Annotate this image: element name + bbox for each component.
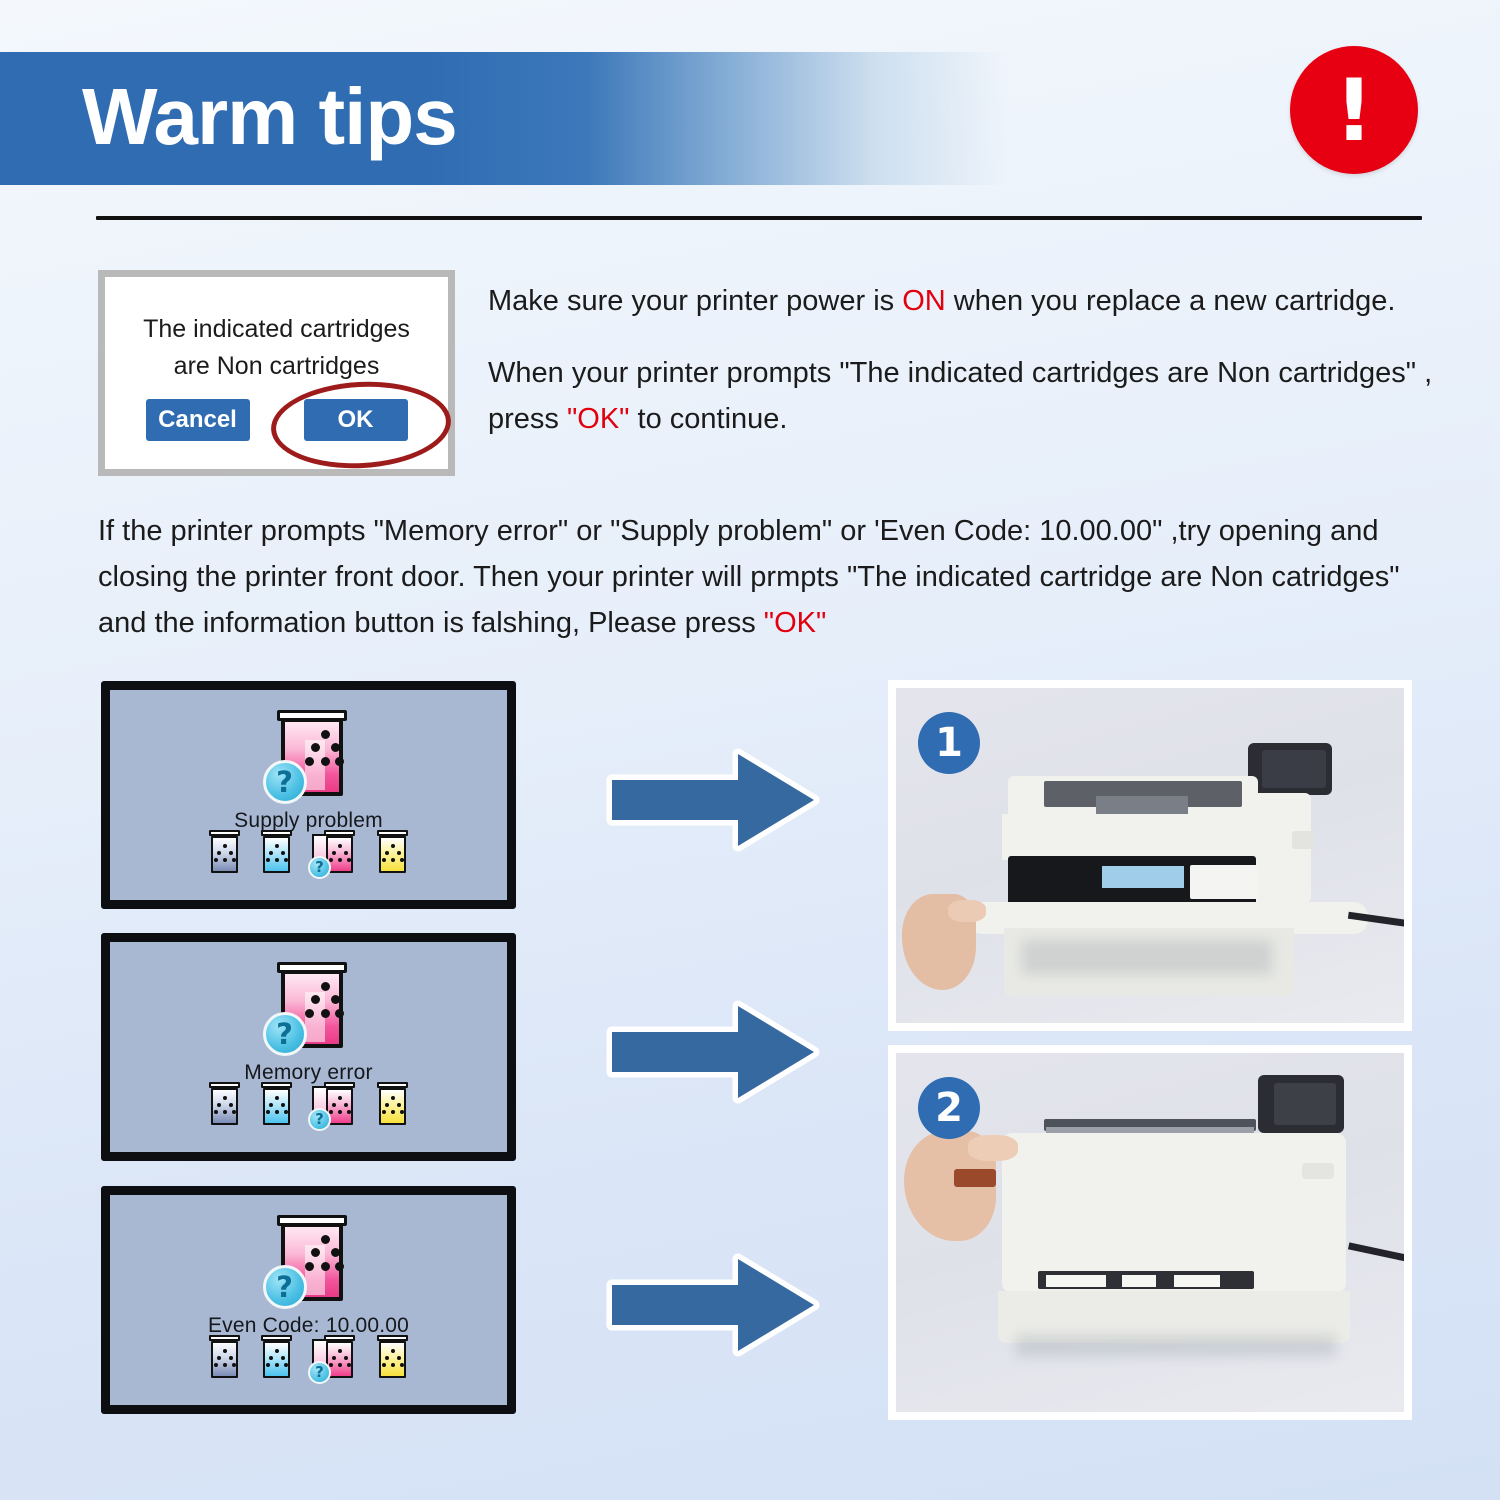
ok-button[interactable]: OK — [304, 399, 408, 441]
intro-paragraph: Make sure your printer power is ON when … — [488, 278, 1448, 442]
printer-front-door-open-image: 1 — [896, 688, 1404, 1023]
warm-tips-page: Warm tips ! The indicated cartridges are… — [0, 0, 1500, 1500]
cartridge-cyan — [260, 1335, 293, 1379]
intro-line1-b: when you replace a new cartridge. — [946, 285, 1396, 317]
page-title: Warm tips — [82, 62, 457, 172]
exclamation-glyph: ! — [1290, 68, 1418, 154]
exclamation-circle-icon: ! — [1290, 46, 1418, 174]
cartridge-row: ? — [110, 830, 507, 874]
step-badge-1: 1 — [918, 712, 980, 774]
main-paragraph-text: If the printer prompts "Memory error" or… — [98, 515, 1400, 639]
cartridge-row: ? — [110, 1082, 507, 1126]
cartridge-yellow — [376, 1335, 409, 1379]
main-paragraph-ok-keyword: "OK" — [764, 607, 827, 639]
cartridge-yellow — [376, 1082, 409, 1126]
intro-on-keyword: ON — [902, 285, 946, 317]
printer-display-panel-1: ? Supply problem ? — [101, 681, 516, 909]
cancel-button[interactable]: Cancel — [146, 399, 250, 441]
toner-question-icon: ? — [267, 706, 351, 800]
step-badge-2: 2 — [918, 1077, 980, 1139]
header-divider — [96, 216, 1422, 220]
photo-step-1: 1 — [888, 680, 1412, 1031]
printer-front-door-closed-image: 2 — [896, 1053, 1404, 1412]
cartridge-black — [208, 1335, 241, 1379]
main-paragraph: If the printer prompts "Memory error" or… — [98, 508, 1418, 646]
question-badge-icon: ? — [263, 1265, 307, 1309]
photo-step-2: 2 — [888, 1045, 1412, 1420]
toner-dots — [305, 730, 343, 776]
cartridge-magenta: ? — [312, 830, 357, 874]
intro-line1-a: Make sure your printer power is — [488, 285, 902, 317]
question-badge-icon: ? — [263, 760, 307, 804]
dialog-message-line-2: are Non cartridges — [123, 348, 430, 385]
toner-dots — [305, 1235, 343, 1281]
cartridge-yellow — [376, 830, 409, 874]
cartridge-magenta: ? — [312, 1082, 357, 1126]
toner-question-icon: ? — [267, 1211, 351, 1305]
toner-dots — [305, 982, 343, 1028]
cartridge-row: ? — [110, 1335, 507, 1379]
right-arrow-icon — [606, 1000, 820, 1104]
cartridge-magenta: ? — [312, 1335, 357, 1379]
cartridge-cyan — [260, 830, 293, 874]
toner-question-icon: ? — [267, 958, 351, 1052]
cartridge-black — [208, 1082, 241, 1126]
cartridge-black — [208, 830, 241, 874]
question-badge-icon: ? — [308, 1361, 331, 1384]
right-arrow-icon — [606, 1253, 820, 1357]
intro-line2-b: to continue. — [629, 403, 787, 435]
printer-dialog: The indicated cartridges are Non cartrid… — [98, 270, 455, 476]
cartridge-cyan — [260, 1082, 293, 1126]
printer-display-panel-2: ? Memory error ? — [101, 933, 516, 1161]
intro-ok-keyword: "OK" — [567, 403, 630, 435]
dialog-message-line-1: The indicated cartridges — [123, 311, 430, 348]
question-badge-icon: ? — [263, 1012, 307, 1056]
question-badge-icon: ? — [308, 856, 331, 879]
right-arrow-icon — [606, 748, 820, 852]
question-badge-icon: ? — [308, 1108, 331, 1131]
printer-display-panel-3: ? Even Code: 10.00.00 ? — [101, 1186, 516, 1414]
